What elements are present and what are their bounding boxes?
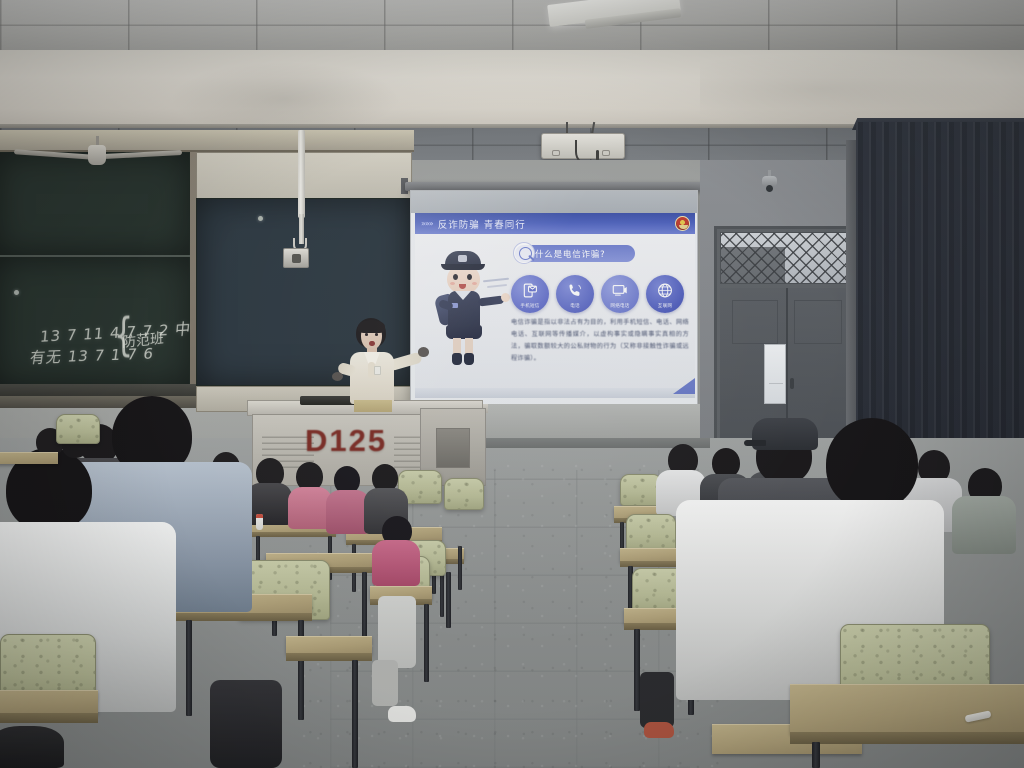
desk-leg — [446, 572, 451, 628]
presenter-eye-left — [365, 333, 368, 336]
desk-leg — [352, 660, 358, 768]
slide-corner-accent — [673, 378, 695, 394]
officer-boot-left — [452, 353, 462, 365]
desk-edge — [0, 713, 98, 723]
blackboard-seam — [0, 255, 190, 257]
slide-question-text: 什么是电信诈骗? — [535, 248, 605, 260]
slide-title: 反诈防骗 青春同行 — [438, 217, 526, 231]
slide-icon-phone: 电话 — [556, 275, 594, 313]
backpack — [0, 726, 64, 768]
slide-question-pill: 什么是电信诈骗? — [515, 245, 635, 262]
student-torso — [952, 496, 1016, 554]
slide-icon-video-call: 网络电话 — [601, 275, 639, 313]
camera-lens-icon — [766, 185, 773, 192]
presenter — [330, 318, 426, 410]
officer-skirt — [446, 325, 482, 339]
desk-top — [620, 548, 684, 562]
curtain-pleats — [856, 122, 1024, 462]
bag — [210, 680, 282, 768]
desk-edge — [286, 653, 372, 661]
seat-back — [626, 514, 676, 552]
door-inset-left — [732, 300, 778, 344]
podium-side-panel — [436, 428, 470, 468]
motion-line-2 — [487, 284, 507, 288]
door-handle-icon[interactable] — [790, 378, 794, 389]
desk-top — [0, 452, 58, 464]
presentation-slide: »»» 反诈防骗 青春同行 — [415, 213, 695, 398]
projection-screen: »»» 反诈防骗 青春同行 — [410, 190, 698, 405]
ceiling-shading — [0, 0, 1024, 52]
screen-blank-margin — [411, 191, 697, 213]
officer-eye-right — [467, 274, 472, 280]
desk-leg — [424, 604, 429, 682]
student-leg-2 — [372, 660, 398, 706]
desk-edge — [176, 613, 312, 621]
desk-edge — [250, 532, 336, 537]
classroom-scene: 13 7 11 4 7 7 2 中 有无 13 7 1 7 6 { 防范班 »»… — [0, 0, 1024, 768]
blackboard-screw-icon — [14, 290, 19, 295]
desk-leg — [812, 742, 820, 768]
slide-icon-label-video: 网络电话 — [601, 303, 639, 309]
phone-icon — [567, 282, 584, 299]
seat-back — [56, 414, 100, 444]
officer-boot-right — [464, 353, 474, 365]
video-call-icon — [612, 282, 629, 299]
slide-icon-label-internet: 互联网 — [646, 303, 684, 309]
slide-body-paragraph: 电信诈骗是指以非法占有为目的，利用手机短信、电话、网络电话、互联网等传播媒介，以… — [511, 317, 689, 365]
chevron-right-icon: »»» — [421, 219, 433, 228]
student-torso — [372, 540, 420, 586]
slide-icon-sms: 手机短信 — [511, 275, 549, 313]
suspended-ceiling — [0, 0, 1024, 52]
cap-brim-icon — [744, 440, 766, 446]
slide-bottom-band — [415, 388, 695, 398]
desk-leg — [458, 546, 462, 590]
slide-icon-label-phone: 电话 — [556, 303, 594, 309]
officer-cap-emblem-icon — [458, 255, 467, 262]
wall-smudge — [170, 62, 400, 124]
room-number-label: D125 — [305, 423, 395, 459]
motion-line-1 — [483, 278, 509, 283]
student-legs — [378, 596, 416, 668]
desk-leg — [186, 620, 192, 716]
officer-cap-brim — [441, 264, 485, 270]
slide-header-bar: »»» 反诈防骗 青春同行 — [415, 213, 695, 234]
presenter-hand-left — [332, 372, 343, 381]
police-badge-icon — [675, 216, 690, 231]
projector-lens-icon — [552, 150, 560, 156]
slide-icon-internet: 互联网 — [646, 275, 684, 313]
sms-icon — [522, 282, 539, 299]
presenter-skirt — [354, 400, 392, 412]
door-inset-right — [794, 300, 842, 344]
presenter-fringe — [358, 320, 385, 333]
officer-hand — [501, 293, 510, 302]
blackout-curtain — [856, 122, 1024, 462]
slide-icon-row: 手机短信 电话 网络电话 — [511, 275, 691, 315]
blackboard-screw-icon-2 — [258, 216, 263, 221]
magnifier-icon — [513, 242, 535, 264]
student-head — [826, 418, 918, 510]
presenter-eye-right — [375, 333, 378, 336]
transom-window — [720, 232, 854, 284]
desk-leg — [298, 620, 304, 720]
student-shoe — [388, 706, 416, 722]
student-torso — [246, 483, 292, 525]
slide-icon-label-sms: 手机短信 — [511, 303, 549, 309]
desk-top — [790, 684, 1024, 734]
cartoon-police-officer — [431, 245, 501, 365]
microphone-icon — [283, 248, 309, 268]
officer-cheek-left — [450, 282, 455, 285]
officer-cheek-right — [472, 282, 477, 285]
officer-eye-left — [453, 274, 458, 280]
presenter-mouth — [369, 341, 375, 346]
wall-smudge-right — [700, 54, 1000, 124]
presenter-badge — [374, 366, 381, 375]
desk-edge — [790, 732, 1024, 744]
water-bottle — [256, 514, 263, 530]
projector-lens2-icon — [602, 150, 610, 156]
microphone-pole — [298, 130, 305, 218]
desk-leg — [362, 572, 367, 640]
blackboard-top-trim — [0, 130, 414, 152]
desk-top — [0, 690, 98, 714]
blackboard-panel-upper-left — [0, 152, 190, 256]
globe-icon — [657, 282, 674, 299]
lattice-grille-icon — [721, 233, 853, 283]
desk-top — [286, 636, 372, 654]
student-shoe — [644, 722, 674, 738]
bottle-cap — [256, 514, 263, 518]
student-legs — [640, 672, 674, 728]
seat-back — [444, 478, 484, 510]
ceiling-fan-icon — [88, 145, 106, 165]
door-notice-sheet — [764, 344, 786, 404]
presenter-hand-right — [418, 347, 429, 357]
